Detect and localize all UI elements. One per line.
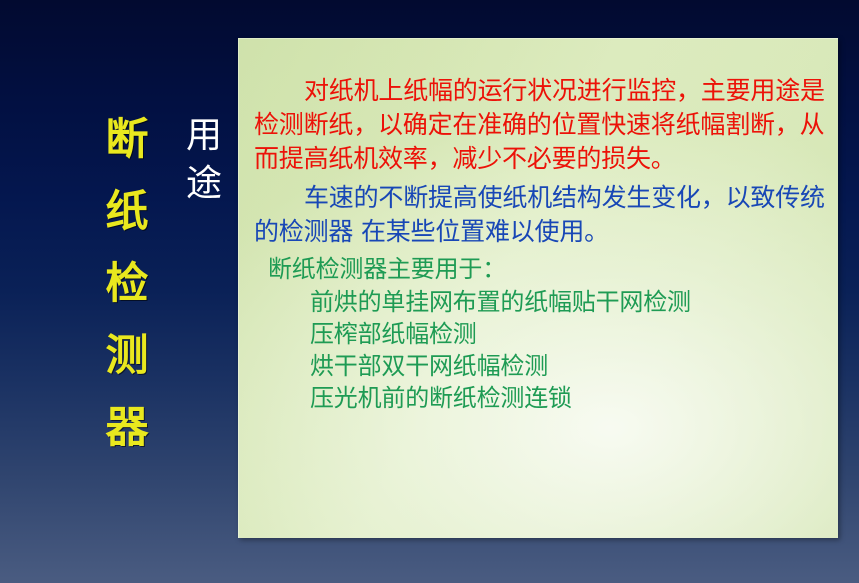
slide-title-vertical: 断 纸 检 测 器 [96,104,158,464]
content-panel: 对纸机上纸幅的运行状况进行监控，主要用途是检测断纸，以确定在准确的位置快速将纸幅… [238,38,838,538]
subtitle-char: 用 [176,112,232,160]
paragraph-purpose-red: 对纸机上纸幅的运行状况进行监控，主要用途是检测断纸，以确定在准确的位置快速将纸幅… [254,74,832,176]
title-char: 器 [96,392,158,464]
list-item: 烘干部双干网纸幅检测 [310,350,832,382]
title-char: 检 [96,248,158,320]
application-list: 前烘的单挂网布置的纸幅贴干网检测 压榨部纸幅检测 烘干部双干网纸幅检测 压光机前… [254,286,832,414]
paragraph-background-blue: 车速的不断提高使纸机结构发生变化，以致传统的检测器 在某些位置难以使用。 [254,181,832,249]
list-item: 前烘的单挂网布置的纸幅贴干网检测 [310,286,832,318]
title-char: 测 [96,320,158,392]
list-heading-green: 断纸检测器主要用于： [254,253,832,286]
content-panel-body: 对纸机上纸幅的运行状况进行监控，主要用途是检测断纸，以确定在准确的位置快速将纸幅… [254,74,832,414]
title-char: 断 [96,104,158,176]
presentation-slide: 断 纸 检 测 器 用 途 对纸机上纸幅的运行状况进行监控，主要用途是检测断纸，… [0,0,859,583]
list-item: 压光机前的断纸检测连锁 [310,382,832,414]
slide-subtitle-vertical: 用 途 [176,112,232,208]
title-char: 纸 [96,176,158,248]
list-item: 压榨部纸幅检测 [310,318,832,350]
subtitle-char: 途 [176,160,232,208]
